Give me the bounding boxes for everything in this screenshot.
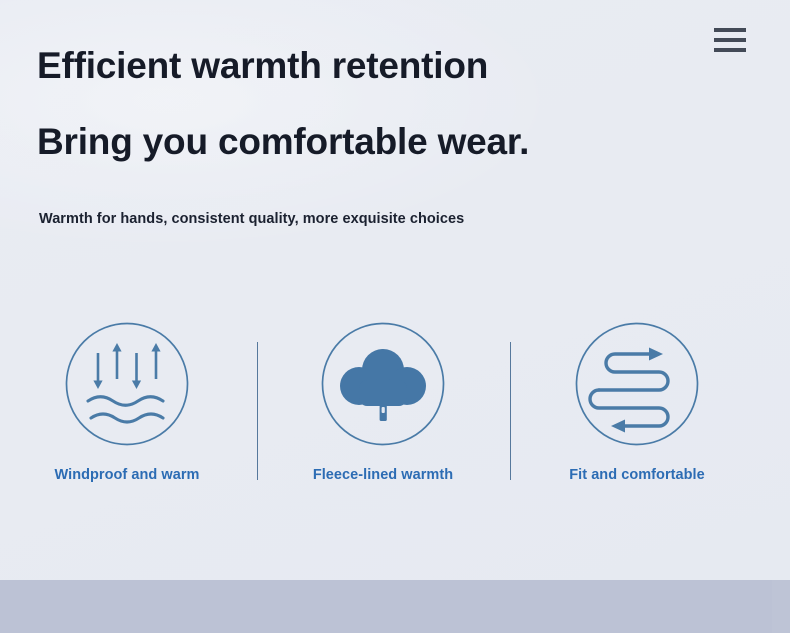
feature-row: Windproof and warm (0, 318, 790, 498)
zigzag-airflow-icon (575, 322, 699, 446)
bottom-color-band (0, 580, 790, 633)
fleece-cloud-icon (321, 322, 445, 446)
feature-label-fit: Fit and comfortable (510, 465, 764, 485)
product-feature-page: Efficient warmth retention Bring you com… (0, 0, 790, 633)
feature-label-fleece: Fleece-lined warmth (256, 465, 510, 485)
hero-subheading: Warmth for hands, consistent quality, mo… (39, 209, 464, 229)
hamburger-bar-bottom (714, 48, 746, 52)
hamburger-bar-top (714, 28, 746, 32)
hero-heading-line-2: Bring you comfortable wear. (37, 120, 529, 164)
hamburger-menu-icon[interactable] (714, 28, 746, 52)
hero-heading-line-1: Efficient warmth retention (37, 44, 488, 88)
windproof-airflow-icon (65, 322, 189, 446)
hamburger-bar-middle (714, 38, 746, 42)
bottom-band-right-edge (772, 580, 790, 633)
feature-item-windproof[interactable]: Windproof and warm (0, 318, 254, 485)
feature-item-fit[interactable]: Fit and comfortable (510, 318, 764, 485)
feature-label-windproof: Windproof and warm (0, 465, 254, 485)
feature-item-fleece[interactable]: Fleece-lined warmth (256, 318, 510, 485)
